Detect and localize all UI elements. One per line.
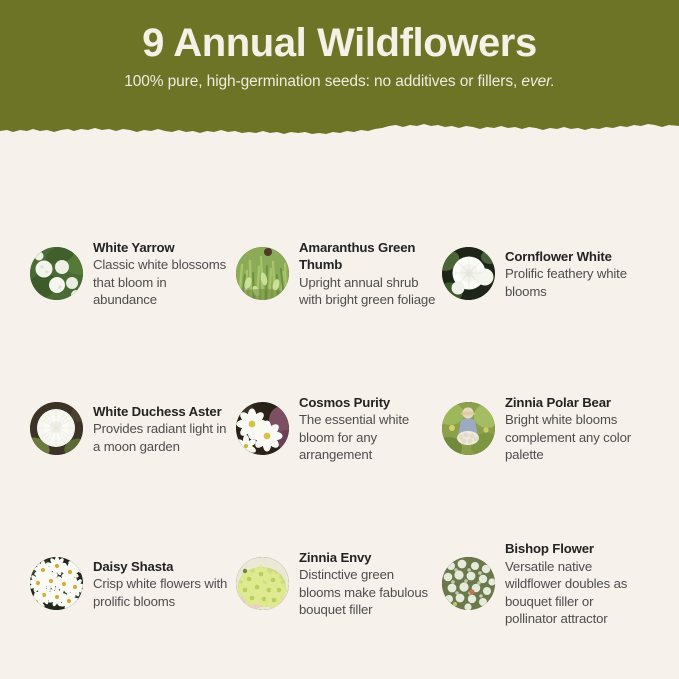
flower-card-amaranthus-green-thumb[interactable]: Amaranthus Green Thumb Upright annual sh… [236,196,442,351]
flower-card-zinnia-polar-bear[interactable]: Zinnia Polar Bear Bright white blooms co… [442,351,655,506]
flower-name: Zinnia Polar Bear [505,394,645,411]
page-title: 9 Annual Wildflowers [142,22,537,64]
flower-name: White Duchess Aster [93,403,233,420]
flower-name: Cosmos Purity [299,394,439,411]
flower-text-block: Daisy Shasta Crisp white flowers with pr… [93,557,233,611]
flower-card-zinnia-envy[interactable]: Zinnia Envy Distinctive green blooms mak… [236,506,442,661]
header-banner: 9 Annual Wildflowers 100% pure, high-ger… [0,0,679,142]
flower-text-block: Cornflower White Prolific feathery white… [505,247,645,301]
bishop-flower-thumbnail-icon [442,557,495,610]
flower-description: Crisp white flowers with prolific blooms [93,575,233,610]
cosmos-purity-thumbnail-icon [236,402,289,455]
flower-name: Zinnia Envy [299,549,439,566]
page-subtitle: 100% pure, high-germination seeds: no ad… [124,73,555,91]
flower-description: Bright white blooms complement any color… [505,411,645,464]
flower-name: White Yarrow [93,239,233,256]
flower-grid: White Yarrow Classic white blossoms that… [0,196,679,661]
flower-description: Versatile native wildflower doubles as b… [505,558,645,628]
flower-name: Bishop Flower [505,540,645,557]
zinnia-polar-bear-thumbnail-icon [442,402,495,455]
flower-description: Distinctive green blooms make fabulous b… [299,566,439,619]
flower-text-block: Zinnia Envy Distinctive green blooms mak… [299,548,439,619]
flower-card-daisy-shasta[interactable]: Daisy Shasta Crisp white flowers with pr… [30,506,236,661]
zinnia-envy-thumbnail-icon [236,557,289,610]
cornflower-white-thumbnail-icon [442,247,495,300]
flower-text-block: Amaranthus Green Thumb Upright annual sh… [299,238,439,309]
flower-card-white-duchess-aster[interactable]: White Duchess Aster Provides radiant lig… [30,351,236,506]
white-duchess-aster-thumbnail-icon [30,402,83,455]
page-subtitle-emphasis: ever. [521,73,554,90]
flower-card-cosmos-purity[interactable]: Cosmos Purity The essential white bloom … [236,351,442,506]
flower-text-block: Bishop Flower Versatile native wildflowe… [505,539,645,628]
flower-name: Daisy Shasta [93,558,233,575]
flower-text-block: White Duchess Aster Provides radiant lig… [93,402,233,456]
flower-card-bishop-flower[interactable]: Bishop Flower Versatile native wildflowe… [442,506,655,661]
flower-text-block: Cosmos Purity The essential white bloom … [299,393,439,464]
amaranthus-green-thumb-thumbnail-icon [236,247,289,300]
flower-description: Upright annual shrub with bright green f… [299,274,439,309]
flower-description: The essential white bloom for any arrang… [299,411,439,464]
flower-text-block: Zinnia Polar Bear Bright white blooms co… [505,393,645,464]
flower-name: Amaranthus Green Thumb [299,239,439,274]
flower-name: Cornflower White [505,248,645,265]
white-yarrow-thumbnail-icon [30,247,83,300]
torn-paper-edge-icon [0,116,679,142]
page-subtitle-lead: 100% pure, high-germination seeds: no ad… [124,73,521,90]
flower-description: Provides radiant light in a moon garden [93,420,233,455]
flower-text-block: White Yarrow Classic white blossoms that… [93,238,233,309]
flower-description: Classic white blossoms that bloom in abu… [93,256,233,309]
flower-card-cornflower-white[interactable]: Cornflower White Prolific feathery white… [442,196,655,351]
daisy-shasta-thumbnail-icon [30,557,83,610]
flower-description: Prolific feathery white blooms [505,265,645,300]
header-content: 9 Annual Wildflowers 100% pure, high-ger… [0,0,679,120]
flower-card-white-yarrow[interactable]: White Yarrow Classic white blossoms that… [30,196,236,351]
